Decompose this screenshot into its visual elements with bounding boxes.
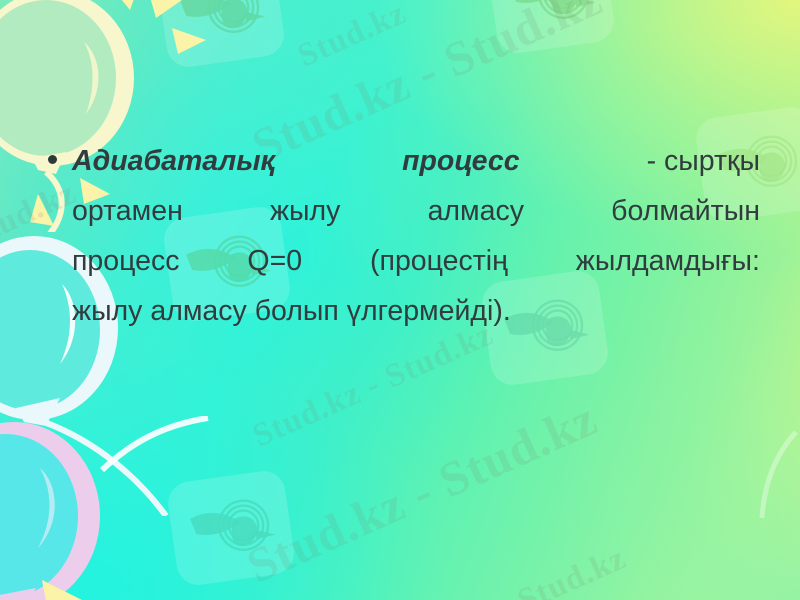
hummingbird-logo-icon: [155, 0, 286, 70]
word: Q=0: [247, 236, 302, 286]
word: болмайтын: [611, 186, 760, 236]
hummingbird-logo-icon: [485, 0, 616, 56]
body-line-3: процесс Q=0 (процестің жылдамдығы:: [72, 236, 760, 286]
word: процесс: [72, 236, 180, 286]
term-process: процесс: [402, 136, 519, 186]
line1-tail: - сыртқы: [647, 136, 760, 186]
bullet-list-item: Адиабаталық процесс - сыртқы ортамен жыл…: [48, 136, 760, 336]
balloon-decoration-group: [0, 420, 214, 600]
body-line-1: Адиабаталық процесс - сыртқы: [72, 136, 760, 186]
ribbon-decoration: [96, 416, 216, 476]
watermark-text: Stud.kz: [512, 540, 631, 600]
hummingbird-logo-icon: [165, 468, 296, 587]
watermark-text: Stud.kz - Stud.kz: [247, 316, 499, 455]
body-line-4: жылу алмасу болып үлгермейді).: [72, 286, 760, 336]
body-paragraph: Адиабаталық процесс - сыртқы ортамен жыл…: [72, 136, 760, 336]
watermark-text: Stud.kz - Stud.kz: [238, 389, 605, 594]
slide-canvas: Stud.kz - Stud.kz Stud.kz Stud.kz - Stud…: [0, 0, 800, 600]
word: жылдамдығы:: [576, 236, 760, 286]
watermark-text: Stud.kz: [292, 0, 411, 75]
term-adiabatic: Адиабаталық: [72, 136, 275, 186]
slide-body: Адиабаталық процесс - сыртқы ортамен жыл…: [48, 136, 760, 336]
word: алмасу: [428, 186, 524, 236]
ribbon-decoration: [744, 430, 800, 520]
bullet-marker-icon: [48, 155, 57, 164]
word: жылу: [270, 186, 340, 236]
body-line-2: ортамен жылу алмасу болмайтын: [72, 186, 760, 236]
word: (процестің: [370, 236, 508, 286]
word: ортамен: [72, 186, 183, 236]
